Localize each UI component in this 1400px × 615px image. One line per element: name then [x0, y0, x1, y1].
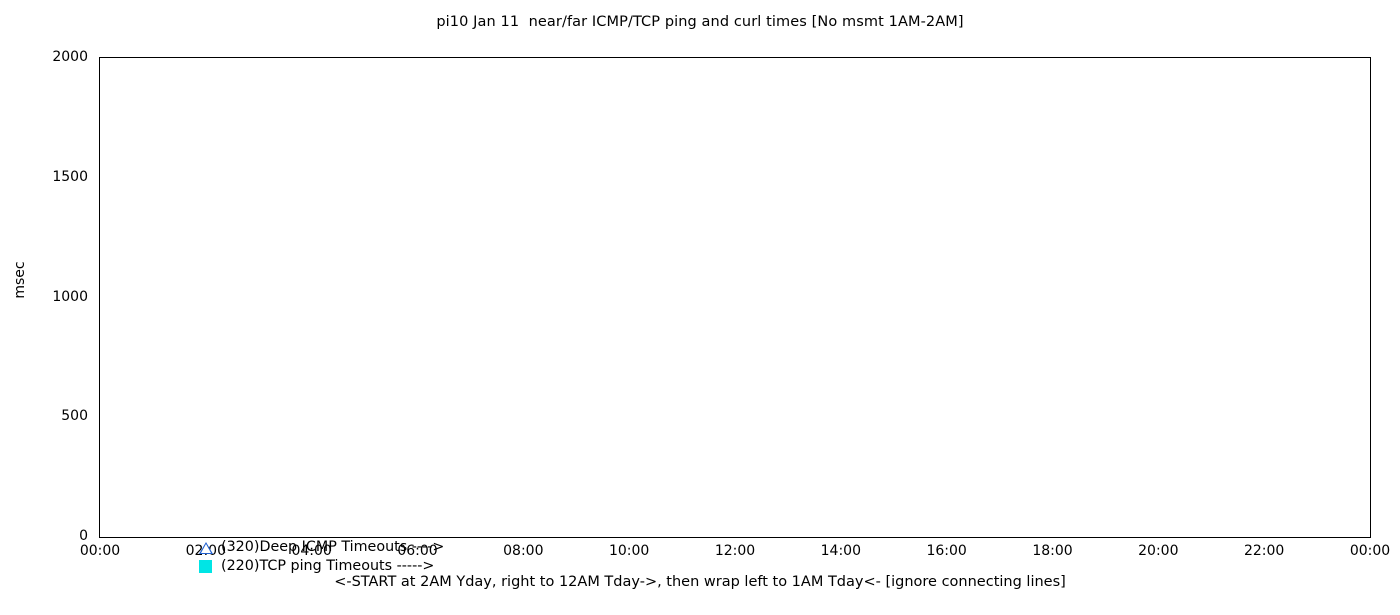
square-filled-icon	[199, 560, 212, 573]
anomaly-row: (1000)Near ICMP Timeout spikes	[127, 460, 454, 479]
circle-filled-icon	[705, 528, 718, 537]
legend-entry: "Ypingresult.txt" using 1:2	[981, 60, 1371, 79]
circle-open-icon	[1263, 461, 1275, 473]
triangle-down-open-icon	[199, 406, 213, 418]
triangle-down-open-dark-icon	[199, 426, 213, 438]
legend-label: "YCustPingSiteTimes.txt" using 1:2	[1050, 99, 1293, 115]
legend-label: "YpingtargetISrouter" using 1:2	[1073, 253, 1293, 269]
square-filled-icon	[702, 478, 715, 491]
circle-filled-icon	[1287, 528, 1300, 537]
square-filled-icon	[482, 478, 495, 491]
legend-label: "YTimetcpping.txt" using 1:2	[1092, 80, 1293, 96]
anomaly-row: (220)TCP ping Timeouts ----->	[127, 557, 454, 576]
square-filled-icon	[535, 478, 548, 491]
circle-open-icon	[893, 471, 905, 483]
legend-entry: "YpingtargetISrouter" using 1:2	[981, 252, 1371, 271]
general-line: deep ICMP[ping] delays -YCustPingSiteTim…	[127, 198, 705, 217]
anomaly-row: (850)PingTarget is router!	[127, 402, 454, 421]
legend-label: "Ytcpoff_record.txt" using 1:2	[1087, 138, 1293, 154]
legend-label: "Yofflineresult.txt" using 1:2	[1097, 119, 1293, 135]
anomaly-row: (500+)Hyperping Timeouts ---->	[127, 441, 454, 460]
legend: "Ypingresult.txt" using 1:2"YTimetcpping…	[981, 60, 1371, 290]
circle-filled-icon	[996, 526, 1009, 537]
legend-key	[1299, 214, 1371, 233]
square-filled-icon	[850, 478, 863, 491]
circle-open-icon	[1085, 464, 1097, 476]
legend-entry: "Yofflineresult.txt" using 1:2	[981, 118, 1371, 137]
circle-filled-icon	[1207, 527, 1220, 537]
anomaly-marker	[199, 560, 212, 579]
square-filled-icon	[1221, 478, 1234, 491]
anomaly-row: (450)OFFLINE STATE ----->	[127, 499, 454, 518]
circle-open-icon	[1138, 468, 1150, 480]
legend-entry: "Ypingtargetchange" using 1:2	[981, 214, 1371, 233]
triangle-up-filled-icon	[1327, 217, 1343, 230]
x-tick-label: 16:00	[902, 543, 992, 559]
circle-filled-icon	[546, 528, 559, 537]
legend-label: "Ycurldnstime.txt" using 1:2	[1096, 176, 1293, 192]
circle-open-icon	[662, 478, 674, 490]
circle-filled-icon	[758, 525, 771, 537]
legend-key	[1299, 233, 1371, 252]
legend-entry: "YTimetcpping.txt" using 1:2	[981, 79, 1371, 98]
circle-filled-icon	[493, 526, 506, 537]
legend-label: "YCustPingTimeout.txt" using 1:2	[1061, 195, 1293, 211]
legend-entry: "YHPpingresult.txt" using 1:2	[981, 233, 1371, 252]
y-tick-label: 1500	[0, 169, 88, 185]
circle-open-icon	[628, 471, 640, 483]
anomaly-label: (320)Deep ICMP Timeouts ---->	[221, 538, 444, 557]
anomaly-row: (400)Reboot/powercycle? ---->	[127, 518, 454, 537]
general-line: Hyperping timeouts -YHPpingresult.txt- -…	[127, 255, 705, 274]
square-open-icon	[1327, 121, 1338, 132]
circle-open-icon	[681, 468, 693, 480]
circle-open-icon	[1327, 159, 1339, 171]
y-tick-label: 500	[0, 408, 88, 424]
general-header: {/:Bold GENERAL:}	[127, 102, 705, 121]
y-axis-label: msec	[12, 240, 28, 320]
anomalies-annotation-block: {/:Bold ANOMALIES:} (850)PingTarget is r…	[127, 306, 454, 615]
circle-filled-icon	[1075, 528, 1088, 537]
legend-line-sample	[1305, 69, 1365, 71]
circle-filled-icon	[652, 529, 665, 537]
legend-entry: "Ytcpoff_record.txt" using 1:2	[981, 137, 1371, 156]
anomaly-row: (795)No ipv6 failures	[127, 422, 454, 441]
anomalies-header: {/:Bold ANOMALIES:}	[127, 345, 454, 364]
square-filled-icon	[1327, 140, 1340, 153]
circle-filled-icon	[837, 527, 850, 537]
x-tick-label: 12:00	[690, 543, 780, 559]
anomaly-row: (550)Ping Target Changes --->	[127, 480, 454, 499]
square-filled-icon	[1147, 478, 1160, 491]
general-line: TCP ping delays -YTimetcpping.txt- using…	[127, 179, 705, 198]
general-line: near ICMP[ping] delays -Ypingresult.txt …	[127, 159, 705, 178]
legend-key	[1299, 60, 1371, 79]
triangle-up-filled-icon	[199, 483, 215, 496]
circle-filled-icon	[916, 527, 929, 537]
circle-filled-icon	[1234, 528, 1247, 537]
circle-filled-icon	[943, 528, 956, 537]
circle-filled-icon	[811, 527, 824, 537]
circle-filled-icon	[1102, 526, 1115, 537]
legend-label: "Ynoipv6" using 1:2	[1155, 272, 1293, 288]
square-filled-icon	[1279, 478, 1292, 491]
x-tick-label: 08:00	[478, 543, 568, 559]
triangle-up-open-icon	[1009, 454, 1023, 466]
legend-entry: "YCustPingSiteTimes.txt" using 1:2	[981, 98, 1371, 117]
circle-open-icon	[734, 471, 746, 483]
circle-filled-icon	[731, 527, 744, 537]
x-tick-label: 00:00	[1325, 543, 1400, 559]
circle-filled-icon	[570, 507, 583, 520]
triangle-up-open-icon	[199, 542, 213, 554]
circle-filled-icon	[1181, 526, 1194, 537]
circle-filled-icon	[467, 528, 480, 537]
chart-root: pi10 Jan 11 near/far ICMP/TCP ping and c…	[0, 0, 1400, 600]
legend-label: "YHPpingresult.txt" using 1:2	[1089, 234, 1293, 250]
chart-title: pi10 Jan 11 near/far ICMP/TCP ping and c…	[0, 14, 1400, 30]
legend-key	[1299, 137, 1371, 156]
square-filled-icon	[795, 478, 808, 491]
general-line: Last rpi boot: 2025-01-01 01:17:21	[127, 274, 705, 293]
anomaly-row: (320)Deep ICMP Timeouts ---->	[127, 538, 454, 557]
circle-open-icon	[1361, 461, 1370, 473]
circle-open-icon	[609, 476, 621, 488]
anomaly-label: (450)OFFLINE STATE ----->	[221, 499, 409, 518]
circle-filled-icon	[784, 527, 797, 537]
general-line: web curl times -Ycurltime.txt- using www…	[127, 217, 705, 236]
circle-open-icon	[575, 447, 587, 459]
triangle-up-open-icon	[845, 454, 859, 466]
circle-filled-icon	[1327, 178, 1340, 191]
y-tick-label: 1000	[0, 289, 88, 305]
legend-label: "Ycurltime.txt" using 1:2	[1121, 157, 1293, 173]
legend-key	[1299, 79, 1371, 98]
y-tick-label: 2000	[0, 49, 88, 65]
anomaly-label: (1000)Near ICMP Timeout spikes	[221, 460, 454, 479]
plus-icon	[1327, 236, 1340, 249]
legend-entry: "Ycurldnstime.txt" using 1:2	[981, 175, 1371, 194]
circle-filled-icon	[1313, 527, 1326, 537]
circle-open-icon	[715, 466, 727, 478]
circle-open-icon	[1191, 469, 1203, 481]
plus-icon	[199, 444, 212, 457]
circle-open-icon	[467, 472, 479, 484]
x-tick-label: 20:00	[1113, 543, 1203, 559]
circle-filled-icon	[890, 527, 903, 537]
triangle-up-open-icon	[1184, 454, 1198, 466]
legend-key	[1299, 98, 1371, 117]
legend-key	[1299, 252, 1371, 271]
triangle-down-open-icon	[1327, 255, 1341, 267]
anomaly-label: (850)PingTarget is router!	[221, 402, 404, 421]
circle-open-icon	[1316, 459, 1328, 471]
legend-key	[1299, 156, 1371, 175]
square-open-icon	[199, 504, 210, 515]
circle-open-icon	[1210, 459, 1222, 471]
legend-key	[1299, 118, 1371, 137]
circle-filled-icon	[625, 526, 638, 537]
timeout-spike	[1086, 298, 1088, 538]
legend-entry: "Ynoipv6" using 1:2	[981, 271, 1371, 290]
legend-line-sample	[1305, 107, 1365, 109]
anomaly-label: (795)No ipv6 failures	[221, 422, 371, 441]
square-filled-icon	[1337, 478, 1350, 491]
circle-open-icon	[1350, 468, 1362, 480]
x-tick-label: 22:00	[1219, 543, 1309, 559]
anomaly-label: (220)TCP ping Timeouts ----->	[221, 557, 434, 576]
legend-key	[1299, 271, 1371, 290]
legend-label: "Ypingresult.txt" using 1:2	[1108, 61, 1293, 77]
circle-open-icon	[1244, 468, 1256, 480]
legend-key	[1299, 194, 1371, 213]
circle-filled-icon	[1340, 528, 1353, 537]
triangle-down-open-dark-icon	[1327, 274, 1341, 286]
triangle-up-open-icon	[1327, 197, 1341, 209]
general-line: DNS query times -Ycurldnstime.txt- using…	[127, 236, 705, 255]
circle-filled-icon	[1128, 527, 1141, 537]
x-tick-label: 14:00	[796, 543, 886, 559]
legend-line-sample	[1305, 88, 1365, 90]
circle-open-icon	[522, 471, 534, 483]
circle-filled-icon	[1049, 527, 1062, 537]
circle-open-icon	[1297, 469, 1309, 481]
circle-filled-icon	[1154, 528, 1167, 537]
square-filled-icon	[959, 478, 972, 491]
legend-entry: "YCustPingTimeout.txt" using 1:2	[981, 194, 1371, 213]
y-tick-label: 0	[0, 528, 88, 544]
anomaly-label: (550)Ping Target Changes --->	[221, 480, 437, 499]
anomaly-rows: (850)PingTarget is router!(795)No ipv6 f…	[127, 402, 454, 576]
circle-filled-icon	[599, 528, 612, 537]
legend-key	[1299, 175, 1371, 194]
circle-open-icon	[768, 476, 780, 488]
square-filled-icon	[1311, 478, 1324, 491]
circle-filled-icon	[969, 526, 982, 537]
x-tick-label: 10:00	[584, 543, 674, 559]
legend-entry: "Ycurltime.txt" using 1:2	[981, 156, 1371, 175]
legend-label: "Ypingtargetchange" using 1:2	[1078, 215, 1293, 231]
x-tick-label: 18:00	[1008, 543, 1098, 559]
anomaly-label: (400)Reboot/powercycle? ---->	[221, 518, 440, 537]
anomaly-label: (500+)Hyperping Timeouts ---->	[221, 441, 453, 460]
circle-open-icon	[821, 476, 833, 488]
circle-filled-icon	[1260, 525, 1273, 537]
circle-filled-icon	[1022, 525, 1035, 537]
circle-filled-icon	[1356, 296, 1369, 309]
